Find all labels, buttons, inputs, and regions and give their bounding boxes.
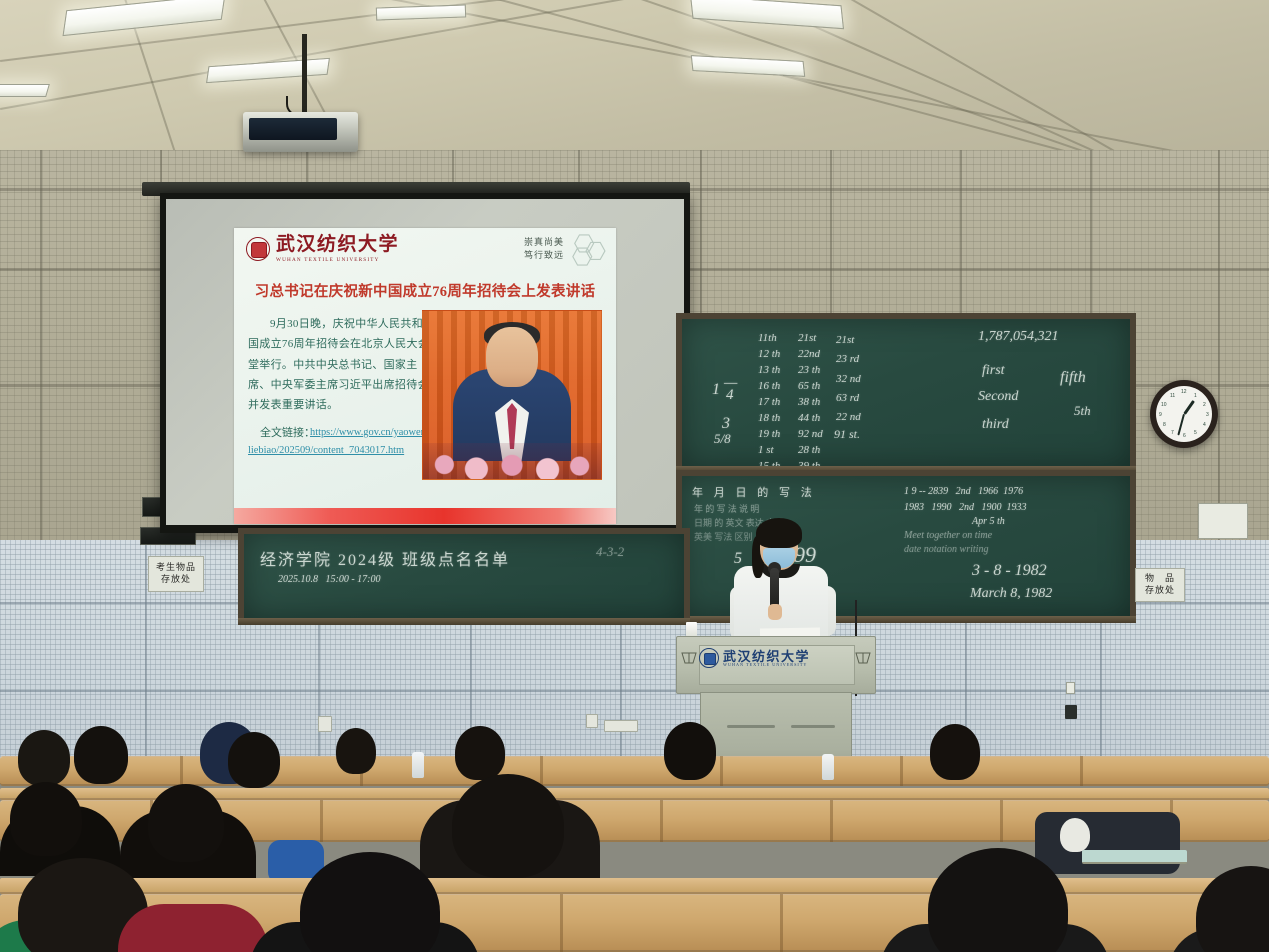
chalk-date-numeric: 3 - 8 - 1982: [972, 562, 1047, 580]
chalk-line-1: 1 9 -- 2839 2nd 1966 1976: [904, 486, 1023, 497]
sign-candidate-belongings: 考生物品 存放处: [148, 556, 204, 592]
sign-left-line-2: 存放处: [149, 573, 203, 585]
student-shoulders: [118, 904, 268, 952]
university-name-cn: 武汉纺织大学: [276, 235, 399, 254]
projector-lens: [249, 118, 337, 140]
figure-head: [486, 327, 538, 387]
university-logo: 武汉纺织大学 WUHAN TEXTILE UNIVERSITY: [246, 235, 399, 263]
projector: [243, 112, 358, 152]
student-head: [18, 730, 70, 786]
chalk-line-5: date notation writing: [904, 544, 988, 555]
wall-notice-box: [1198, 503, 1248, 539]
wall-outlet: [318, 716, 332, 732]
chalk-left-corner-note: 4-3-2: [596, 544, 624, 560]
speaker-hand: [768, 604, 782, 620]
chalk-line-4: Meet together on time: [904, 530, 992, 541]
chalk-rail: [238, 618, 690, 625]
slogan-line-2: 笃行致远: [524, 249, 564, 262]
podium-name-en: WUHAN TEXTILE UNIVERSITY: [723, 662, 807, 667]
wall-outlet: [586, 714, 598, 728]
chalk-date-written: March 8, 1982: [970, 586, 1052, 602]
university-name-en: WUHAN TEXTILE UNIVERSITY: [276, 257, 399, 263]
hexagon-motif-icon: [568, 233, 606, 267]
audience-seating-area: [0, 744, 1269, 952]
water-bottle: [412, 752, 424, 778]
blackboard-left: 经济学院 2024级 班级点名名单 2025.10.8 15:00 - 17:0…: [238, 528, 690, 624]
slide-slogan: 崇真尚美 笃行致远: [524, 236, 564, 262]
student-head: [228, 732, 280, 788]
slide-header: 武汉纺织大学 WUHAN TEXTILE UNIVERSITY 崇真尚美 笃行致…: [234, 228, 616, 274]
desk-item-book: [1082, 850, 1187, 864]
blackboard-upper-right: 1 — 4 3 5/8 11th 12 th 13 th 16 th 17 th…: [676, 313, 1136, 473]
slide-footer-band: [234, 508, 616, 524]
student-head: [10, 782, 82, 856]
backpack-on-seat: [1035, 812, 1180, 874]
chalk-line-2: 1983 1990 2nd 1900 1933: [904, 502, 1027, 513]
sign-belongings-storage: 物 品 存放处: [1135, 568, 1185, 602]
lecture-hall-scene: 武汉纺织大学 WUHAN TEXTILE UNIVERSITY 崇真尚美 笃行致…: [0, 0, 1269, 952]
student-head: [664, 722, 716, 780]
ceiling-light-fixture: [206, 58, 330, 83]
student-head: [455, 726, 505, 780]
plush-toy: [1060, 818, 1090, 852]
podium-left-emblem-icon: [681, 651, 697, 665]
slogan-line-1: 崇真尚美: [524, 236, 564, 249]
university-seal-icon: [246, 237, 270, 261]
slide-title: 习总书记在庆祝新中国成立76周年招待会上发表讲话: [234, 280, 616, 301]
sign-right-line-2: 存放处: [1136, 584, 1184, 596]
clock-hour-hand: [1183, 400, 1195, 415]
wall-outlet: [604, 720, 638, 732]
speaker-hair: [756, 518, 802, 548]
wall-clock: 12 1 2 3 4 5 6 7 8 9 10 11: [1150, 380, 1218, 448]
desk-row: [0, 878, 1269, 894]
sign-right-line-1: 物 品: [1136, 572, 1184, 584]
wall-switch[interactable]: [1065, 705, 1077, 719]
sign-left-line-1: 考生物品: [149, 561, 203, 573]
ceiling-light-fixture: [0, 84, 50, 97]
slide-body-text: 9月30日晚，庆祝中华人民共和国成立76周年招待会在北京人民大会堂举行。中共中央…: [248, 314, 430, 416]
student-head: [74, 726, 128, 784]
student-head: [452, 774, 564, 878]
wall-sensor: [1066, 682, 1075, 694]
student-head: [336, 728, 376, 774]
slide-link-url[interactable]: https://www.gov.cn/yaowen/liebiao/202509…: [248, 424, 430, 460]
ceiling-light-fixture: [376, 4, 466, 20]
chalk-large-number: 1,787,054,321: [978, 329, 1059, 345]
student-head: [930, 724, 980, 780]
flower-arrangement: [423, 443, 601, 479]
bench-row[interactable]: [0, 756, 1269, 786]
podium-right-emblem-icon: [855, 651, 871, 665]
water-bottle: [822, 754, 834, 780]
podium-top: 武汉纺织大学 WUHAN TEXTILE UNIVERSITY: [676, 636, 876, 694]
chalk-line-3: Apr 5 th: [972, 516, 1005, 527]
chalk-left-subheading: 2025.10.8 15:00 - 17:00: [278, 574, 381, 585]
clock-face: 12 1 2 3 4 5 6 7 8 9 10 11: [1156, 386, 1212, 442]
ceiling-light-fixture: [63, 0, 226, 36]
podium-seal-icon: [699, 648, 719, 668]
student-head: [148, 784, 224, 862]
slide-photo: [422, 310, 602, 480]
chalk-cn-note: 年 月 日 的 写 法: [692, 484, 816, 500]
chalk-left-heading: 经济学院 2024级 班级点名名单: [260, 546, 510, 570]
presentation-slide: 武汉纺织大学 WUHAN TEXTILE UNIVERSITY 崇真尚美 笃行致…: [234, 228, 616, 524]
ceiling-light-fixture: [691, 55, 805, 77]
